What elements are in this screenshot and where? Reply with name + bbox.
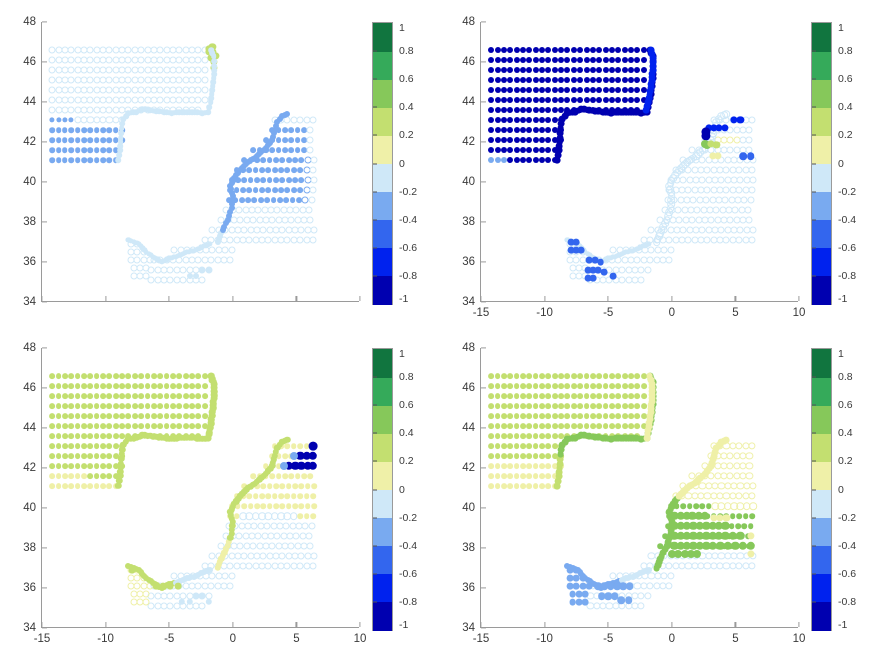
data-point <box>533 137 539 143</box>
colorbar-tick-mark <box>373 489 377 490</box>
data-point <box>700 503 706 509</box>
data-point <box>539 47 545 53</box>
colorbar-tick-label: -0.4 <box>831 214 856 226</box>
data-point <box>533 67 539 73</box>
data-point <box>646 373 653 380</box>
data-point <box>56 383 62 389</box>
colorbar-band <box>373 433 392 462</box>
data-point <box>62 117 67 122</box>
data-point <box>304 493 310 499</box>
data-point <box>743 513 749 519</box>
data-point <box>288 137 294 143</box>
data-point <box>272 167 278 173</box>
data-point <box>94 403 100 409</box>
colorbar-tick-label: 0.6 <box>831 73 853 85</box>
y-tick-mark <box>481 141 486 142</box>
data-point <box>202 413 208 419</box>
colorbar-band <box>812 602 831 631</box>
data-point <box>501 47 507 53</box>
data-point <box>201 87 208 94</box>
data-point <box>609 383 615 389</box>
data-point <box>311 177 318 184</box>
data-point <box>94 453 100 459</box>
data-point <box>747 197 754 204</box>
data-point <box>285 187 291 193</box>
data-point <box>603 87 609 93</box>
x-tick-label: -5 <box>164 627 174 645</box>
data-point <box>289 473 295 479</box>
data-point <box>495 433 501 439</box>
data-point <box>132 413 138 419</box>
data-point <box>520 403 526 409</box>
data-point <box>577 423 583 429</box>
data-point <box>495 117 501 123</box>
data-point <box>196 403 202 409</box>
axes-porphyra: 3436384042444648 <box>41 22 359 302</box>
data-point <box>280 177 286 183</box>
data-point <box>164 403 170 409</box>
data-point <box>641 57 647 63</box>
data-point <box>254 177 260 183</box>
colorbar-band <box>812 107 831 136</box>
data-point <box>539 67 545 73</box>
data-point <box>62 373 68 379</box>
data-point <box>628 383 634 389</box>
data-point <box>132 373 138 379</box>
data-point <box>132 403 138 409</box>
data-point <box>577 373 583 379</box>
data-point <box>507 157 513 163</box>
data-point <box>308 523 315 530</box>
data-point <box>533 147 539 153</box>
data-point <box>495 147 501 153</box>
data-point <box>609 393 615 399</box>
data-point <box>565 403 571 409</box>
data-point <box>495 403 501 409</box>
data-point <box>87 373 93 379</box>
x-tick-label: -5 <box>603 627 613 645</box>
data-point <box>646 567 652 573</box>
data-point <box>748 562 755 569</box>
data-point <box>81 157 87 163</box>
data-point <box>56 403 62 409</box>
data-point <box>175 583 182 590</box>
data-point <box>113 403 119 409</box>
data-point <box>118 135 124 141</box>
data-point <box>526 47 532 53</box>
data-point <box>62 483 68 489</box>
data-point <box>282 127 288 133</box>
data-point <box>533 433 539 439</box>
data-point <box>533 57 539 63</box>
data-point <box>49 473 55 479</box>
data-point <box>94 127 100 133</box>
x-tick-label: 5 <box>293 627 299 645</box>
data-point <box>267 177 273 183</box>
data-point <box>533 393 539 399</box>
data-point <box>286 503 292 509</box>
data-point <box>628 403 634 409</box>
data-point <box>266 493 272 499</box>
data-point <box>269 473 275 479</box>
data-point <box>507 433 513 439</box>
data-point <box>488 443 494 449</box>
data-point <box>307 147 314 154</box>
data-point <box>208 373 215 380</box>
data-point <box>747 152 755 160</box>
data-point <box>564 77 570 83</box>
data-point <box>291 187 297 193</box>
data-point <box>68 443 74 449</box>
data-point <box>49 483 55 489</box>
data-point <box>615 97 621 103</box>
data-point <box>564 57 570 63</box>
data-point <box>622 67 628 73</box>
data-point <box>539 147 545 153</box>
data-point <box>546 433 552 439</box>
data-point <box>288 147 294 153</box>
data-point <box>596 67 602 73</box>
colorbar-band <box>373 107 392 136</box>
data-point <box>495 57 501 63</box>
data-point <box>526 433 532 439</box>
data-point <box>273 483 279 489</box>
colorbar-band <box>373 518 392 547</box>
data-point <box>641 67 647 73</box>
data-point <box>56 147 62 153</box>
data-point <box>739 152 747 160</box>
colorbar-tick-mark <box>812 433 816 434</box>
data-point <box>87 393 93 399</box>
data-point <box>56 463 62 469</box>
data-point <box>488 67 494 73</box>
data-point <box>507 137 513 143</box>
data-point <box>558 67 564 73</box>
x-tick-label: -15 <box>473 301 490 319</box>
data-point <box>132 383 138 389</box>
x-tick-mark <box>169 296 170 301</box>
data-point <box>539 117 545 123</box>
data-point <box>100 443 106 449</box>
data-point <box>565 393 571 399</box>
data-point <box>261 503 267 509</box>
data-point <box>609 67 615 73</box>
data-point <box>49 423 55 429</box>
colorbar-tick-mark <box>373 405 377 406</box>
data-point <box>164 383 170 389</box>
colorbar-tick-label: -0.4 <box>831 540 856 552</box>
data-point <box>94 137 100 143</box>
data-point <box>304 513 310 519</box>
data-point <box>571 383 577 389</box>
data-point <box>564 67 570 73</box>
data-point <box>81 453 87 459</box>
data-point <box>68 373 74 379</box>
data-point <box>507 473 513 479</box>
data-point <box>622 87 628 93</box>
data-point <box>590 57 596 63</box>
data-point <box>520 373 526 379</box>
data-point <box>571 77 577 83</box>
data-point <box>495 443 501 449</box>
data-point <box>615 393 621 399</box>
data-point <box>253 187 259 193</box>
data-point <box>520 473 526 479</box>
data-point <box>545 147 551 153</box>
colorbar-tick-mark <box>373 135 377 136</box>
data-point <box>729 523 735 529</box>
data-point <box>164 423 170 429</box>
data-point <box>68 147 74 153</box>
data-point <box>667 572 674 579</box>
data-point <box>748 523 754 529</box>
data-point <box>701 512 709 520</box>
data-point <box>126 423 132 429</box>
data-point <box>189 413 195 419</box>
data-point <box>514 137 520 143</box>
data-point <box>88 157 94 163</box>
colorbar-tick-mark <box>812 517 816 518</box>
data-point <box>501 383 507 389</box>
data-point <box>81 393 87 399</box>
data-point <box>590 67 596 73</box>
data-point <box>577 383 583 389</box>
y-tick-mark <box>481 587 486 588</box>
y-tick-label: 48 <box>23 16 42 28</box>
data-point <box>520 157 526 163</box>
data-point <box>565 423 571 429</box>
data-point <box>75 423 81 429</box>
data-point <box>488 127 494 133</box>
data-point <box>199 277 206 284</box>
data-point <box>501 117 507 123</box>
data-point <box>615 413 621 419</box>
data-point <box>596 383 602 389</box>
data-point <box>227 257 234 264</box>
data-point <box>202 403 208 409</box>
plot-area-porphyra <box>42 22 359 301</box>
colorbar-tick-mark <box>373 545 377 546</box>
data-point <box>176 373 182 379</box>
colorbar-tick-mark <box>373 107 377 108</box>
data-point <box>49 383 55 389</box>
data-point <box>520 463 526 469</box>
data-point <box>603 97 609 103</box>
data-point <box>151 383 157 389</box>
data-point <box>176 383 182 389</box>
data-point <box>558 393 564 399</box>
colorbar-tick-mark <box>373 275 377 276</box>
x-tick-mark <box>41 296 42 301</box>
data-point <box>107 127 113 133</box>
data-point <box>520 87 526 93</box>
data-point <box>138 393 144 399</box>
colorbar-tick-label: -1 <box>831 619 847 631</box>
panel-mero: Mero 3436384042444648 -15-10-50510 10.80… <box>439 326 878 652</box>
data-point <box>49 433 55 439</box>
data-point <box>299 503 305 509</box>
data-point <box>94 147 100 153</box>
data-point <box>285 443 291 449</box>
data-point <box>609 373 615 379</box>
data-point <box>56 423 62 429</box>
data-point <box>199 603 206 610</box>
data-point <box>183 383 189 389</box>
data-point <box>189 393 195 399</box>
colorbar-tick-mark <box>812 79 816 80</box>
data-point <box>539 57 545 63</box>
data-point <box>495 127 501 133</box>
data-point <box>520 47 526 53</box>
data-point <box>81 463 87 469</box>
data-point <box>269 147 275 153</box>
data-point <box>514 77 520 83</box>
data-point <box>247 493 253 499</box>
data-point <box>507 47 513 53</box>
data-point <box>609 403 615 409</box>
x-tick-label: 10 <box>793 627 806 645</box>
data-point <box>62 393 68 399</box>
data-point <box>539 483 545 489</box>
data-point <box>520 107 526 113</box>
data-point <box>297 513 303 519</box>
data-point <box>539 87 545 93</box>
data-point <box>507 403 513 409</box>
data-point <box>266 187 272 193</box>
data-point <box>571 393 577 399</box>
data-point <box>635 423 641 429</box>
data-point <box>596 403 602 409</box>
data-point <box>167 583 174 590</box>
data-point <box>62 413 68 419</box>
data-point <box>267 157 273 163</box>
data-point <box>526 77 532 83</box>
data-point <box>87 473 93 479</box>
data-point <box>88 127 94 133</box>
colorbar-tick-mark <box>373 573 377 574</box>
colorbar-tick-mark <box>812 377 816 378</box>
data-point <box>622 393 628 399</box>
data-point <box>533 453 539 459</box>
data-point <box>545 57 551 63</box>
data-point <box>239 197 245 203</box>
data-point <box>170 413 176 419</box>
data-point <box>94 413 100 419</box>
data-point <box>514 453 520 459</box>
data-point <box>205 599 211 605</box>
data-point <box>577 393 583 399</box>
data-point <box>590 373 596 379</box>
data-point <box>622 373 628 379</box>
data-point <box>488 403 494 409</box>
colorbar-tick-label: 1 <box>392 348 405 360</box>
data-point <box>87 403 93 409</box>
data-point <box>193 273 199 279</box>
data-point <box>297 493 303 499</box>
data-point <box>189 373 195 379</box>
data-point <box>88 147 94 153</box>
colorbar-tick-label: -0.2 <box>831 512 856 524</box>
colorbar-tick-label: 0.8 <box>831 371 853 383</box>
data-point <box>603 77 609 83</box>
data-point <box>520 453 526 459</box>
y-tick-label: 44 <box>23 422 42 434</box>
data-point <box>94 157 100 163</box>
data-point <box>514 483 520 489</box>
data-point <box>501 453 507 459</box>
data-point <box>520 117 526 123</box>
data-point <box>56 413 62 419</box>
data-point <box>590 87 596 93</box>
data-point <box>271 197 277 203</box>
data-point <box>634 67 640 73</box>
data-point <box>520 423 526 429</box>
data-point <box>202 383 208 389</box>
data-point <box>292 483 298 489</box>
data-point <box>615 67 621 73</box>
data-point <box>159 583 166 590</box>
data-point <box>157 403 163 409</box>
data-point <box>107 393 113 399</box>
data-point <box>564 47 570 53</box>
colorbar-tick-mark <box>812 219 816 220</box>
data-point <box>558 403 564 409</box>
colorbar-tick-label: -0.4 <box>392 540 417 552</box>
colorbar-band <box>812 23 831 52</box>
colorbar-tick-label: 0 <box>392 484 405 496</box>
data-point <box>590 97 596 103</box>
data-point <box>488 423 494 429</box>
data-point <box>584 67 590 73</box>
colorbar-mero: 10.80.60.40.20-0.2-0.4-0.6-0.8-1 <box>811 348 832 631</box>
data-point <box>723 514 730 521</box>
data-point <box>107 383 113 389</box>
data-point <box>309 452 317 460</box>
x-tick-mark <box>359 296 360 301</box>
data-point <box>309 167 316 174</box>
data-point <box>495 453 501 459</box>
data-point <box>306 207 313 214</box>
data-point <box>747 532 754 539</box>
data-point <box>201 67 208 74</box>
data-point <box>514 373 520 379</box>
data-point <box>62 433 68 439</box>
y-tick-label: 44 <box>462 422 481 434</box>
data-point <box>622 97 628 103</box>
data-point <box>282 147 288 153</box>
data-point <box>189 423 195 429</box>
colorbar-tick-label: 0.6 <box>392 399 414 411</box>
data-point <box>205 109 211 115</box>
data-point <box>49 453 55 459</box>
data-point <box>533 413 539 419</box>
data-point <box>49 413 55 419</box>
data-point <box>634 97 640 103</box>
data-point <box>514 443 520 449</box>
data-point <box>75 137 81 143</box>
data-point <box>533 403 539 409</box>
data-point <box>520 67 526 73</box>
data-point <box>100 483 106 489</box>
data-point <box>520 97 526 103</box>
data-point <box>259 167 265 173</box>
data-point <box>119 423 125 429</box>
y-tick-mark <box>42 181 47 182</box>
data-point <box>545 47 551 53</box>
data-point <box>107 463 113 469</box>
data-point <box>488 47 494 53</box>
colorbar-band <box>373 377 392 406</box>
